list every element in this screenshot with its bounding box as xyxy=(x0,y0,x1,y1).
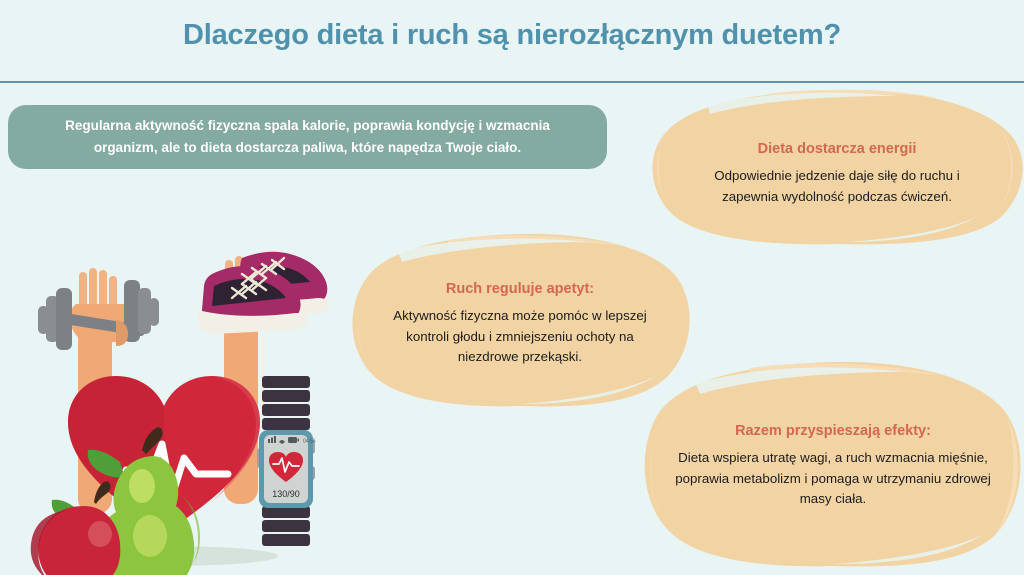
dumbbell-weight-left xyxy=(38,288,72,350)
callout-effects-content: Razem przyspieszają efekty: Dieta wspier… xyxy=(640,356,1024,568)
callout-effects-heading: Razem przyspieszają efekty: xyxy=(735,422,931,441)
callout-energy-content: Dieta dostarcza energii Odpowiednie jedz… xyxy=(648,86,1024,246)
header-divider xyxy=(0,81,1024,83)
watch-band-upper xyxy=(262,376,310,430)
watch-reading: 130/90 xyxy=(272,489,300,499)
running-shoes xyxy=(198,252,330,334)
dumbbell-weight-right xyxy=(124,280,159,342)
smartwatch: 04:56 130/90 xyxy=(257,376,316,546)
callout-effects-body: Dieta wspiera utratę wagi, a ruch wzmacn… xyxy=(674,448,992,510)
health-illustration: 04:56 130/90 xyxy=(16,234,346,575)
infographic-canvas: Dlaczego dieta i ruch są nierozłącznym d… xyxy=(0,0,1024,575)
callout-energy-body: Odpowiednie jedzenie daje siłę do ruchu … xyxy=(688,166,986,207)
callout-energy-heading: Dieta dostarcza energii xyxy=(758,140,917,159)
intro-banner: Regularna aktywność fizyczna spala kalor… xyxy=(8,105,607,169)
callout-blob-effects: Razem przyspieszają efekty: Dieta wspier… xyxy=(640,356,1024,568)
callout-appetite-heading: Ruch reguluje apetyt: xyxy=(446,280,594,299)
page-title: Dlaczego dieta i ruch są nierozłącznym d… xyxy=(0,18,1024,53)
health-illustration-svg: 04:56 130/90 xyxy=(16,234,346,575)
callout-appetite-body: Aktywność fizyczna może pomóc w lepszej … xyxy=(378,306,662,368)
intro-banner-text: Regularna aktywność fizyczna spala kalor… xyxy=(34,115,581,159)
watch-status-time: 04:56 xyxy=(303,439,316,445)
callout-blob-energy: Dieta dostarcza energii Odpowiednie jedz… xyxy=(648,86,1024,246)
